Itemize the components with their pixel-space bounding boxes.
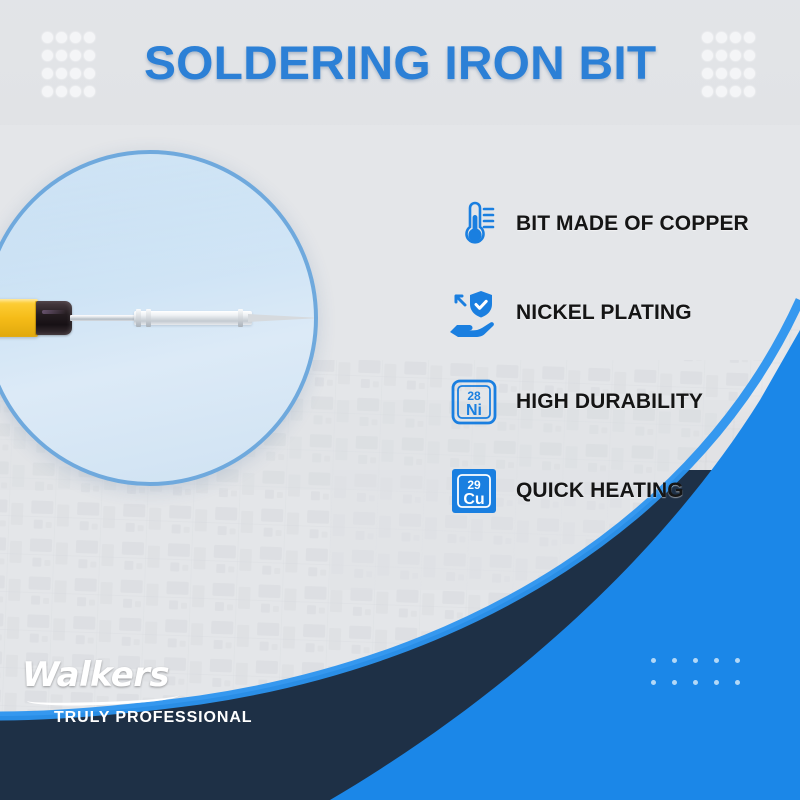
header: SOLDERING IRON BIT xyxy=(0,0,800,125)
dot-grid-bottom-right xyxy=(651,658,756,702)
thermometer-icon xyxy=(448,198,500,250)
logo-swoosh xyxy=(27,689,179,707)
feature-row: 28 Ni HIGH DURABILITY xyxy=(448,374,768,430)
feature-list: BIT MADE OF COPPER NICKEL PLATING xyxy=(448,196,768,519)
feature-row: BIT MADE OF COPPER xyxy=(448,196,768,252)
dot-grid-left xyxy=(42,32,98,104)
hand-shield-check-icon xyxy=(448,287,500,339)
feature-row: 29 Cu QUICK HEATING xyxy=(448,463,768,519)
feature-label: HIGH DURABILITY xyxy=(516,390,703,414)
bit-pointed-tip xyxy=(248,314,318,322)
element-symbol: Cu xyxy=(463,491,484,508)
element-symbol: Ni xyxy=(466,402,482,419)
element-number: 29 xyxy=(467,478,481,492)
bit-ring xyxy=(136,309,141,327)
page-title: SOLDERING IRON BIT xyxy=(144,35,656,90)
soldering-iron-bit-illustration xyxy=(0,283,318,353)
element-copper-icon: 29 Cu xyxy=(448,465,500,517)
bit-shaft-barrel xyxy=(134,311,252,325)
brand-name: Walkers xyxy=(22,655,252,695)
bit-ring xyxy=(238,309,243,327)
element-number: 28 xyxy=(467,389,481,403)
feature-label: NICKEL PLATING xyxy=(516,301,692,325)
brand-tagline: TRULY PROFESSIONAL xyxy=(54,709,252,727)
bit-black-collar xyxy=(36,301,72,335)
feature-label: QUICK HEATING xyxy=(516,479,684,503)
product-infographic: SOLDERING IRON BIT xyxy=(0,0,800,800)
feature-label: BIT MADE OF COPPER xyxy=(516,212,749,236)
feature-row: NICKEL PLATING xyxy=(448,285,768,341)
bit-ring xyxy=(146,309,151,327)
bit-yellow-base xyxy=(0,299,38,337)
dot-grid-right xyxy=(702,32,758,104)
brand-logo: Walkers TRULY PROFESSIONAL xyxy=(22,655,252,727)
element-nickel-icon: 28 Ni xyxy=(448,376,500,428)
